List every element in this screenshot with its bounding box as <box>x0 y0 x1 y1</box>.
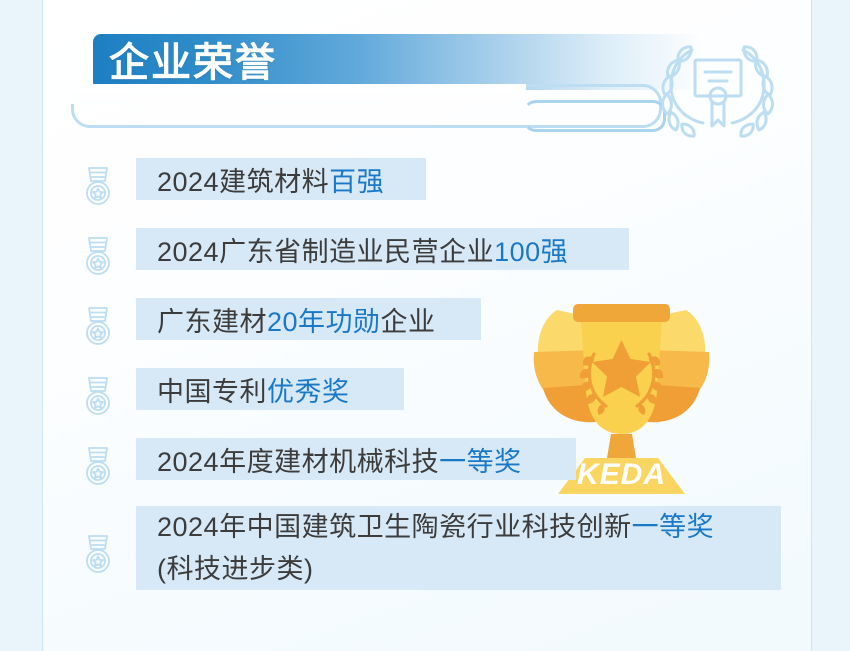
list-item-text-plain: 广东建材 <box>157 300 267 339</box>
header-underline-mask <box>71 84 526 104</box>
page-header: 企业荣誉 <box>43 0 811 150</box>
list-item-text: 2024年中国建筑卫生陶瓷行业科技创新一等奖 (科技进步类) <box>157 506 714 590</box>
list-item-text-plain: 2024建筑材料 <box>157 160 329 199</box>
list-item-text-accent: 优秀奖 <box>267 370 350 409</box>
list-item-text-plain: 中国专利 <box>157 370 267 409</box>
list-item-text-accent: 百强 <box>329 160 384 199</box>
page-title: 企业荣誉 <box>109 38 277 88</box>
medal-icon <box>81 446 115 486</box>
list-item[interactable]: 2024年中国建筑卫生陶瓷行业科技创新一等奖 (科技进步类) <box>43 502 811 602</box>
list-item-text-line2: (科技进步类) <box>157 548 714 590</box>
header-underline-pill-small <box>523 100 666 132</box>
list-item-text-accent: 一等奖 <box>439 440 522 479</box>
list-item-text: 2024广东省制造业民营企业100强 <box>157 228 568 270</box>
list-item-text-plain-tail: 企业 <box>381 300 436 339</box>
medal-icon <box>81 166 115 206</box>
list-item[interactable]: 2024广东省制造业民营企业100强 <box>43 222 811 292</box>
list-item-text-accent: 100强 <box>494 230 568 269</box>
right-margin-strip <box>812 0 850 651</box>
list-item[interactable]: 2024年度建材机械科技一等奖 <box>43 432 811 502</box>
left-margin-strip <box>0 0 42 651</box>
left-divider-line <box>42 0 43 651</box>
list-item-text-accent: 20年功勋 <box>267 300 381 339</box>
medal-icon <box>81 534 115 574</box>
medal-icon <box>81 306 115 346</box>
list-item-text-line1: 2024年中国建筑卫生陶瓷行业科技创新一等奖 <box>157 506 714 548</box>
list-item-text: 2024建筑材料百强 <box>157 158 384 200</box>
list-item-text-plain: 2024年中国建筑卫生陶瓷行业科技创新 <box>157 512 632 542</box>
content-card: 企业荣誉 <box>43 0 811 651</box>
list-item[interactable]: 中国专利优秀奖 <box>43 362 811 432</box>
list-item[interactable]: 广东建材20年功勋企业 <box>43 292 811 362</box>
list-item-text: 2024年度建材机械科技一等奖 <box>157 438 522 480</box>
honors-list: 2024建筑材料百强 2024广东省制造业民营 <box>43 152 811 602</box>
honors-page: 企业荣誉 <box>0 0 850 651</box>
laurel-wreath-certificate-icon <box>655 30 780 140</box>
list-item-text-plain: 2024广东省制造业民营企业 <box>157 230 494 269</box>
medal-icon <box>81 376 115 416</box>
list-item-text: 中国专利优秀奖 <box>157 368 350 410</box>
list-item-text-plain: 2024年度建材机械科技 <box>157 440 439 479</box>
right-divider-line <box>811 0 812 651</box>
list-item[interactable]: 2024建筑材料百强 <box>43 152 811 222</box>
list-item-text: 广东建材20年功勋企业 <box>157 298 436 340</box>
list-item-text-accent: 一等奖 <box>632 512 715 542</box>
medal-icon <box>81 236 115 276</box>
